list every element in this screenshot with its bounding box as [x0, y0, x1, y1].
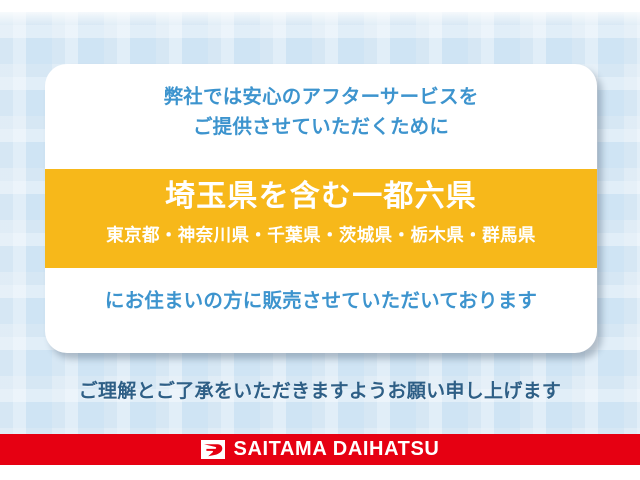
bottom-white-band: [0, 465, 640, 480]
brand-footer-bar: SAITAMA DAIHATSU: [0, 434, 640, 465]
intro-line-2: ご提供させていただくために: [45, 112, 597, 142]
promo-banner: 弊社では安心のアフターサービスを ご提供させていただくために 埼玉県を含む一都六…: [0, 0, 640, 480]
top-white-band: [0, 0, 640, 12]
prefecture-list: 東京都・神奈川県・千葉県・茨城県・栃木県・群馬県: [45, 221, 597, 249]
card-closing-text: にお住まいの方に販売させていただいております: [45, 286, 597, 316]
daihatsu-d-mark-icon: [201, 440, 225, 459]
closing-note: ご理解とご了承をいただきますようお願い申し上げます: [0, 378, 640, 406]
brand-lockup: SAITAMA DAIHATSU: [201, 438, 440, 461]
notice-card: 弊社では安心のアフターサービスを ご提供させていただくために 埼玉県を含む一都六…: [45, 64, 597, 353]
brand-name: SAITAMA DAIHATSU: [234, 438, 440, 461]
intro-line-1: 弊社では安心のアフターサービスを: [45, 82, 597, 112]
highlight-headline: 埼玉県を含む一都六県: [45, 177, 597, 217]
intro-text-block: 弊社では安心のアフターサービスを ご提供させていただくために: [45, 82, 597, 142]
highlight-band: 埼玉県を含む一都六県 東京都・神奈川県・千葉県・茨城県・栃木県・群馬県: [45, 169, 597, 268]
